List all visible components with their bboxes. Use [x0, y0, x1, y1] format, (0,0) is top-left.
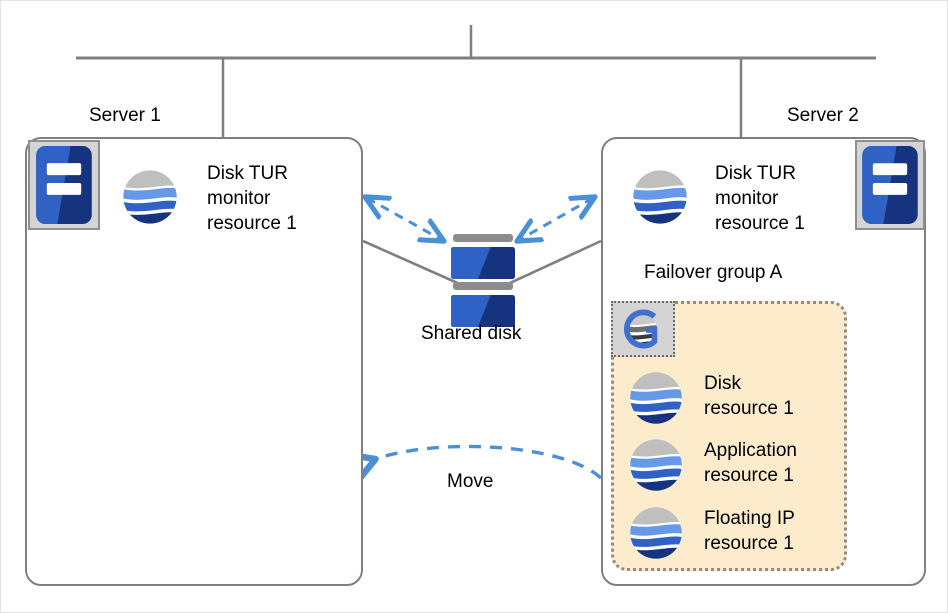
server-1-monitor-line-2: monitor — [207, 186, 297, 211]
server-2-label: Server 2 — [787, 105, 859, 127]
server-2-monitor-line-1: Disk TUR — [715, 161, 805, 186]
server-1-monitor-label: Disk TUR monitor resource 1 — [207, 161, 297, 236]
failover-resource-0-line-2: resource 1 — [704, 396, 794, 421]
server-2-monitor-line-2: monitor — [715, 186, 805, 211]
failover-resource-label-2: Floating IP resource 1 — [704, 506, 795, 556]
failover-resource-1-line-2: resource 1 — [704, 463, 797, 488]
failover-group-icon-glyph — [613, 303, 673, 355]
failover-resource-0-line-1: Disk — [704, 371, 794, 396]
server-2-monitor-label: Disk TUR monitor resource 1 — [715, 161, 805, 236]
failover-resource-icon-0 — [628, 370, 684, 426]
disk-access-arrow-left — [367, 198, 442, 240]
shared-disk-icon — [451, 234, 515, 327]
failover-group-icon — [611, 301, 675, 357]
server-1-label: Server 1 — [89, 105, 161, 127]
failover-resource-1-line-1: Application — [704, 438, 797, 463]
server-2-icon — [855, 140, 925, 230]
server-1-icon — [28, 140, 100, 230]
failover-resource-icon-1 — [628, 437, 684, 493]
failover-resource-label-1: Application resource 1 — [704, 438, 797, 488]
server-2-monitor-line-3: resource 1 — [715, 211, 805, 236]
server-1-monitor-icon — [121, 168, 179, 226]
failover-resource-2-line-2: resource 1 — [704, 531, 795, 556]
failover-resource-2-line-1: Floating IP — [704, 506, 795, 531]
failover-group-label: Failover group A — [644, 262, 782, 284]
failover-resource-icon-2 — [628, 505, 684, 561]
disk-access-arrow-right — [519, 198, 593, 240]
server-1-monitor-line-3: resource 1 — [207, 211, 297, 236]
server-icon-glyph — [857, 142, 923, 228]
shared-disk-label: Shared disk — [421, 323, 521, 345]
failover-resource-label-0: Disk resource 1 — [704, 371, 794, 421]
network-bus — [76, 25, 876, 137]
move-label: Move — [447, 471, 493, 493]
server-2-monitor-icon — [631, 168, 689, 226]
server-icon-glyph — [30, 142, 98, 228]
server-1-monitor-line-1: Disk TUR — [207, 161, 297, 186]
diagram-canvas: Server 1 Disk TUR monitor resource 1 Ser… — [0, 0, 948, 613]
